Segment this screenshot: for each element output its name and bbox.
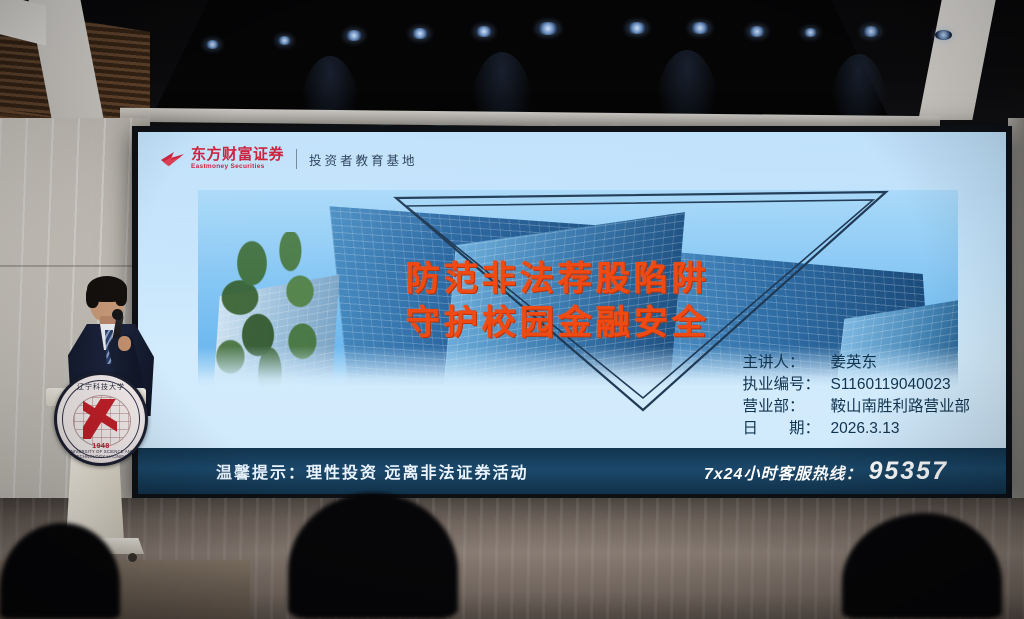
ceiling-spotlight-icon (345, 30, 363, 41)
presentation-slide: 东方财富证券 Eastmoney Securities 投资者教育基地 (138, 132, 1006, 494)
podium-caster (128, 553, 137, 562)
ceiling-spotlight-icon (277, 36, 292, 45)
banner-hotline: 7x24小时客服热线： 95357 (704, 457, 948, 486)
brand-logo-text: 东方财富证券 Eastmoney Securities (191, 147, 284, 171)
ceiling-spotlight-icon (862, 26, 880, 37)
presenter-hand (118, 336, 131, 351)
eastmoney-arrow-icon (160, 151, 186, 167)
wall-left-seam (0, 265, 150, 267)
ceiling-spotlight-icon (627, 22, 647, 34)
presenter-value: 2026.3.13 (830, 418, 899, 440)
slide-title: 防范非法荐股陷阱 守护校园金融安全 (406, 258, 710, 345)
presentation-photo-scene: 东方财富证券 Eastmoney Securities 投资者教育基地 (0, 0, 1024, 619)
ceiling-spotlight-icon (205, 40, 220, 49)
presenter-info-row: 执业编号： S1160119040023 (742, 374, 970, 396)
banner-tip-text: 温馨提示：理性投资 远离非法证券活动 (216, 459, 528, 483)
ceiling-beam-right (918, 0, 995, 120)
ceiling-spotlight-icon (411, 28, 429, 39)
university-seal-icon: 辽宁科技大学 1948 UNIVERSITY OF SCIENCE AND TE… (54, 372, 148, 466)
slide-header: 东方财富证券 Eastmoney Securities 投资者教育基地 (138, 132, 1006, 186)
seal-name-cn: 辽宁科技大学 (57, 382, 145, 392)
brand-subtitle: 投资者教育基地 (309, 150, 418, 169)
presenter-hair-side (115, 286, 127, 306)
ceiling-spotlight-icon (690, 22, 710, 34)
ceiling-spotlight-icon (537, 22, 559, 35)
slide-title-line1: 防范非法荐股陷阱 (406, 258, 710, 302)
hotline-number: 95357 (868, 457, 948, 486)
logo-divider (296, 149, 297, 169)
brand-name-cn: 东方财富证券 (191, 147, 284, 162)
presenter-hair-side (86, 286, 99, 308)
seal-brush-mark (83, 399, 117, 439)
ceiling-spotlight-icon (803, 28, 818, 37)
presenter-value: 鞍山南胜利路营业部 (830, 396, 970, 418)
microphone-head-icon (112, 309, 123, 320)
ceiling-spotlight-icon (935, 30, 952, 40)
hotline-label: 7x24小时客服热线： (704, 460, 863, 484)
led-screen-frame: 东方财富证券 Eastmoney Securities 投资者教育基地 (132, 126, 1012, 500)
brand-logo: 东方财富证券 Eastmoney Securities (160, 147, 284, 171)
slide-bottom-banner: 温馨提示：理性投资 远离非法证券活动 7x24小时客服热线： 95357 (138, 448, 1006, 494)
presenter-label: 执业编号： (742, 374, 830, 396)
presenter-info: 主讲人： 姜英东 执业编号： S1160119040023 营业部： 鞍山南胜利… (742, 352, 970, 440)
presenter-label: 营业部： (742, 396, 830, 418)
presenter-info-row: 主讲人： 姜英东 (742, 352, 970, 374)
presenter-value: S1160119040023 (830, 374, 950, 396)
presenter-info-row: 日 期： 2026.3.13 (742, 418, 970, 440)
seal-name-en: UNIVERSITY OF SCIENCE AND TECHNOLOGY LIA… (57, 449, 145, 459)
presenter-label: 日 期： (742, 418, 830, 440)
presenter-label: 主讲人： (742, 352, 830, 374)
slide-title-line2: 守护校园金融安全 (406, 302, 710, 346)
ceiling-spotlight-icon (748, 26, 766, 37)
brand-name-en: Eastmoney Securities (191, 164, 284, 171)
presenter-info-row: 营业部： 鞍山南胜利路营业部 (742, 396, 970, 418)
ceiling-spotlight-icon (475, 26, 493, 37)
presenter-value: 姜英东 (830, 352, 877, 374)
